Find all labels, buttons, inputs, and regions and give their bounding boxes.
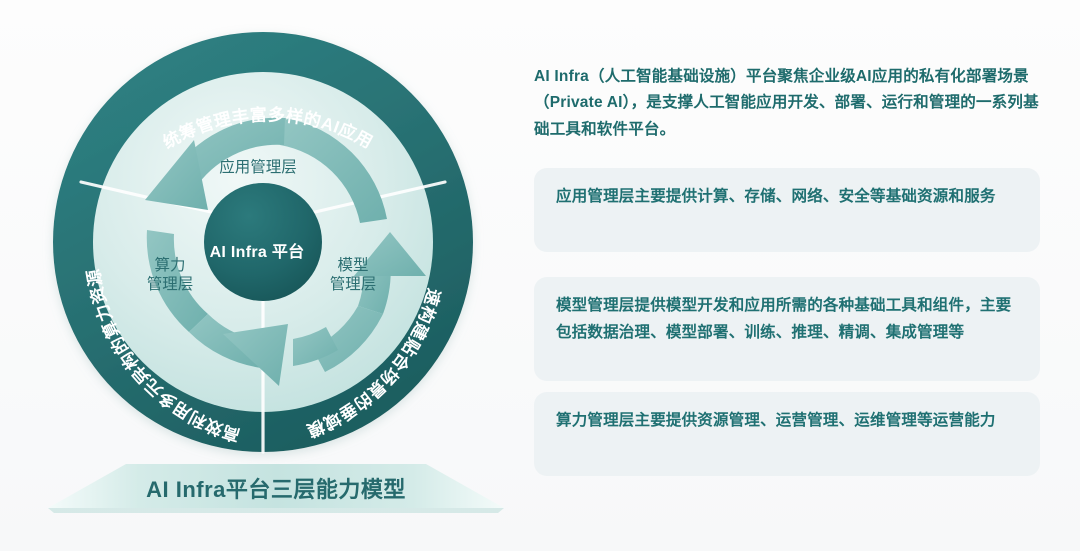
- info-card-power-layer: 算力管理层主要提供资源管理、运营管理、运维管理等运营能力: [534, 392, 1040, 476]
- plinth-shape: [46, 462, 506, 514]
- text-panel: AI Infra（人工智能基础设施）平台聚焦企业级AI应用的私有化部署场景（Pr…: [534, 0, 1054, 551]
- plinth-edge: [48, 508, 504, 513]
- plinth-top-face: [48, 464, 504, 508]
- info-card-model-layer: 模型管理层提供模型开发和应用所需的各种基础工具和组件，主要包括数据治理、模型部署…: [534, 277, 1040, 381]
- infographic-root: 统筹管理丰富多样的AI应用 快速构建贴合场景的垂域模型 高效利用多元异构的算力资…: [0, 0, 1080, 551]
- intro-paragraph: AI Infra（人工智能基础设施）平台聚焦企业级AI应用的私有化部署场景（Pr…: [534, 64, 1040, 144]
- core-circle: [204, 183, 322, 301]
- info-card-app-layer: 应用管理层主要提供计算、存储、网络、安全等基础资源和服务: [534, 168, 1040, 252]
- diagram-panel: 统筹管理丰富多样的AI应用 快速构建贴合场景的垂域模型 高效利用多元异构的算力资…: [0, 0, 520, 551]
- capability-wheel: 统筹管理丰富多样的AI应用 快速构建贴合场景的垂域模型 高效利用多元异构的算力资…: [38, 14, 498, 484]
